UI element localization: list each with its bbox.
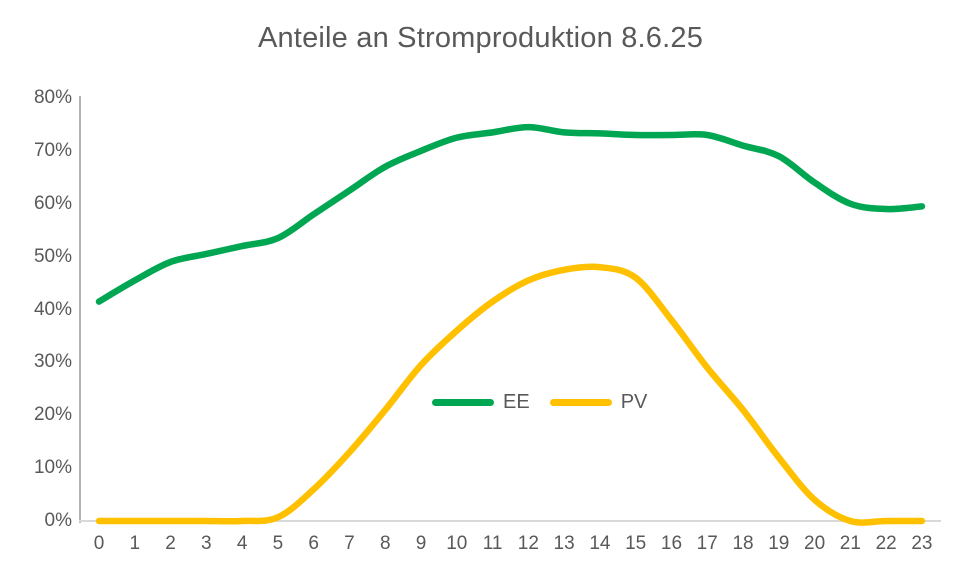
legend-entry-pv[interactable]: PV xyxy=(550,392,648,412)
legend-entry-ee[interactable]: EE xyxy=(432,392,530,412)
legend-label: EE xyxy=(503,392,530,412)
legend-label: PV xyxy=(621,392,648,412)
series-plot xyxy=(0,0,961,577)
legend-swatch-icon xyxy=(432,399,494,406)
chart-legend: EEPV xyxy=(432,392,647,412)
series-line-ee xyxy=(99,127,922,301)
chart-container: Anteile an Stromproduktion 8.6.25 80%70%… xyxy=(0,0,961,577)
legend-swatch-icon xyxy=(550,399,612,406)
